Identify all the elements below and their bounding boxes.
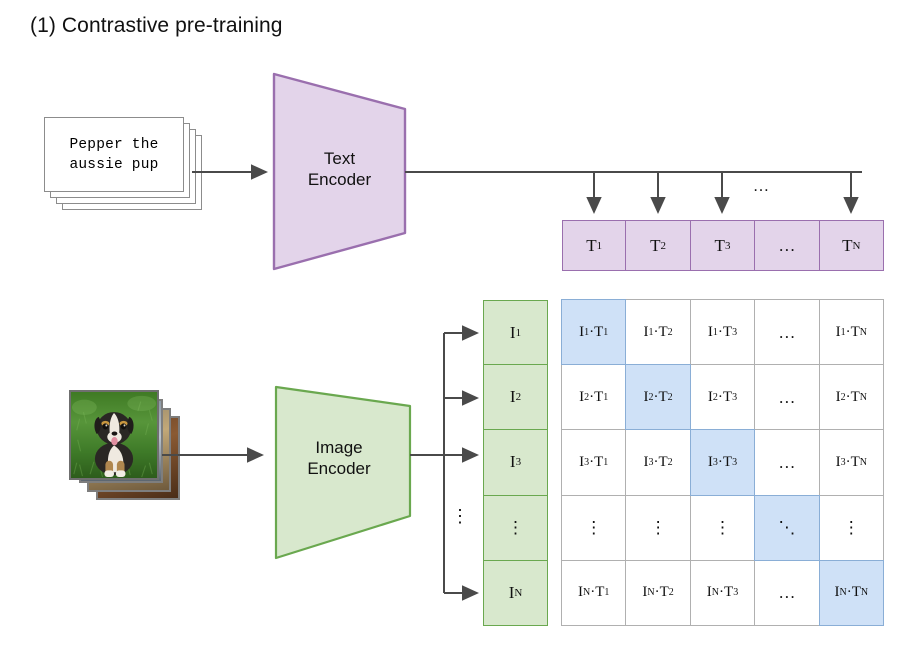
image-embedding-subscript: 3 [516, 456, 522, 468]
similarity-cell: I1·T3 [690, 299, 755, 365]
similarity-cell: ⋮ [819, 495, 884, 561]
similarity-ellipsis: … [778, 324, 795, 341]
similarity-text-index: 3 [733, 587, 738, 598]
similarity-cell-diagonal: IN·TN [819, 560, 884, 626]
similarity-cell: IN·T2 [625, 560, 690, 626]
text-embedding-label: T [715, 236, 725, 256]
similarity-text-index: 1 [603, 457, 608, 468]
image-encoder-shape [268, 385, 414, 561]
similarity-text-term: T [852, 584, 861, 601]
text-embedding-label: T [650, 236, 660, 256]
similarity-ellipsis: ⋮ [714, 519, 731, 536]
image-embedding-cell: ⋮ [483, 495, 548, 561]
wire-ellipsis-horizontal: … [741, 178, 781, 196]
similarity-text-index: N [861, 587, 868, 598]
image-embedding-cell: IN [483, 560, 548, 626]
similarity-text-term: T [851, 454, 860, 471]
similarity-cell: ⋮ [561, 495, 626, 561]
image-embedding-cell: I1 [483, 300, 548, 365]
image-embedding-subscript: 1 [516, 327, 522, 339]
similarity-cell: I2·TN [819, 364, 884, 430]
similarity-cell: IN·T3 [690, 560, 755, 626]
similarity-text-term: T [594, 324, 603, 341]
similarity-text-term: T [723, 389, 732, 406]
similarity-ellipsis: … [778, 454, 795, 471]
image-input-photo [69, 390, 159, 480]
similarity-cell: ⋮ [690, 495, 755, 561]
similarity-ellipsis: ⋮ [650, 519, 667, 536]
similarity-text-term: T [851, 389, 860, 406]
similarity-image-index: N [583, 587, 590, 598]
similarity-ellipsis: ⋱ [778, 519, 795, 536]
similarity-text-term: T [659, 324, 668, 341]
similarity-ellipsis: … [778, 389, 795, 406]
text-embedding-row: T1T2T3…TN [562, 220, 884, 271]
similarity-cell: I2·T1 [561, 364, 626, 430]
text-embedding-cell: … [754, 220, 819, 271]
text-embedding-label: T [586, 236, 596, 256]
similarity-cell: … [754, 560, 819, 626]
similarity-text-index: N [860, 327, 867, 338]
similarity-cell: I3·T2 [625, 429, 690, 495]
image-embedding-subscript: N [514, 587, 522, 599]
similarity-text-term: T [851, 324, 860, 341]
figure-canvas: (1) Contrastive pre-training Pepper the … [0, 0, 906, 654]
text-input-caption: Pepper the aussie pup [69, 135, 158, 175]
text-embedding-label: … [778, 236, 795, 256]
similarity-text-term: T [594, 389, 603, 406]
similarity-text-term: T [659, 389, 668, 406]
similarity-text-index: 3 [732, 327, 737, 338]
similarity-cell-diagonal: I2·T2 [625, 364, 690, 430]
text-embedding-subscript: 3 [725, 240, 731, 252]
text-embedding-subscript: 2 [661, 240, 667, 252]
similarity-text-term: T [724, 584, 733, 601]
similarity-text-index: 2 [668, 392, 673, 403]
text-embedding-subscript: N [853, 240, 861, 252]
similarity-text-term: T [594, 454, 603, 471]
similarity-cell: ⋮ [625, 495, 690, 561]
similarity-text-term: T [595, 584, 604, 601]
similarity-cell: IN·T1 [561, 560, 626, 626]
text-embedding-cell: T2 [625, 220, 690, 271]
similarity-text-index: 1 [603, 327, 608, 338]
page-title: (1) Contrastive pre-training [30, 14, 283, 38]
similarity-cell: I2·T3 [690, 364, 755, 430]
similarity-ellipsis: ⋮ [585, 519, 602, 536]
image-embedding-cell: I2 [483, 364, 548, 430]
text-input-card: Pepper the aussie pup [44, 117, 184, 192]
similarity-text-index: 3 [732, 457, 737, 468]
similarity-text-index: 1 [604, 587, 609, 598]
image-embedding-subscript: 2 [516, 391, 522, 403]
similarity-cell: … [754, 364, 819, 430]
text-embedding-cell: T1 [562, 220, 626, 271]
similarity-matrix: I1·T1I1·T2I1·T3…I1·TNI2·T1I2·T2I2·T3…I2·… [562, 300, 884, 626]
similarity-image-index: N [647, 587, 654, 598]
similarity-cell: I1·TN [819, 299, 884, 365]
image-embedding-cell: I3 [483, 429, 548, 495]
similarity-text-index: N [860, 392, 867, 403]
similarity-text-index: 2 [668, 457, 673, 468]
image-embedding-column: I1I2I3⋮IN [483, 300, 548, 626]
wire-ellipsis-vertical: ⋮ [447, 506, 473, 527]
similarity-cell: I3·TN [819, 429, 884, 495]
similarity-cell-diagonal: I3·T3 [690, 429, 755, 495]
image-embedding-label: ⋮ [507, 519, 524, 536]
text-embedding-cell: T3 [690, 220, 755, 271]
text-embedding-cell: TN [819, 220, 884, 271]
similarity-ellipsis: … [778, 584, 795, 601]
similarity-text-index: 3 [732, 392, 737, 403]
text-encoder-shape [272, 72, 408, 272]
similarity-cell-diagonal: I1·T1 [561, 299, 626, 365]
similarity-image-index: N [839, 587, 846, 598]
similarity-cell: I1·T2 [625, 299, 690, 365]
text-embedding-subscript: 1 [597, 240, 603, 252]
similarity-image-index: N [712, 587, 719, 598]
similarity-text-index: 1 [603, 392, 608, 403]
similarity-text-index: 2 [669, 587, 674, 598]
similarity-text-term: T [723, 454, 732, 471]
similarity-text-term: T [659, 454, 668, 471]
similarity-text-index: N [860, 457, 867, 468]
similarity-ellipsis: ⋮ [843, 519, 860, 536]
similarity-text-index: 2 [668, 327, 673, 338]
text-embedding-label: T [842, 236, 852, 256]
similarity-cell: I3·T1 [561, 429, 626, 495]
similarity-cell: … [754, 429, 819, 495]
similarity-cell-diagonal: ⋱ [754, 495, 819, 561]
similarity-text-term: T [660, 584, 669, 601]
similarity-text-term: T [723, 324, 732, 341]
similarity-cell: … [754, 299, 819, 365]
